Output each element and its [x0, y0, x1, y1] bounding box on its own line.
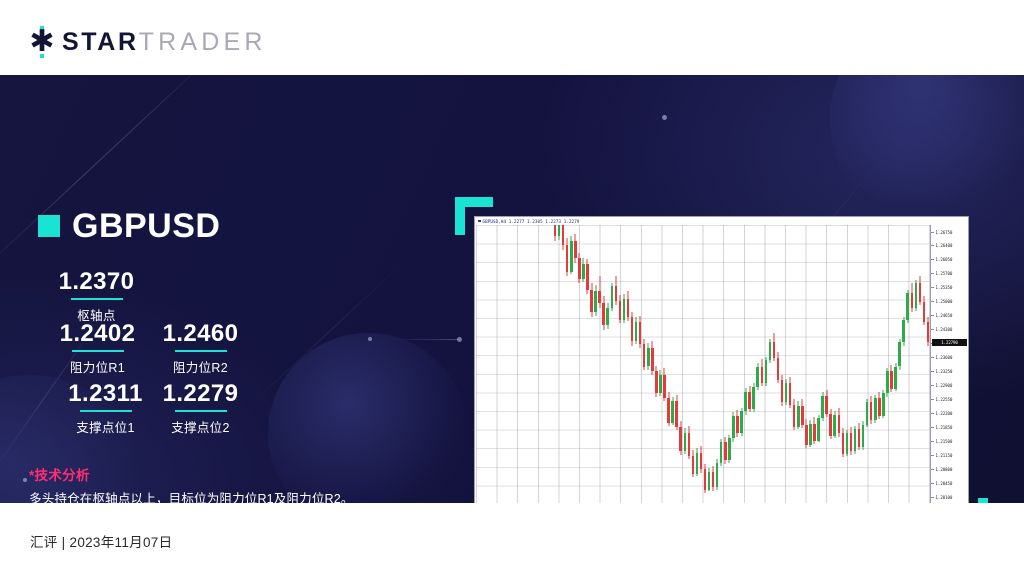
- candlestick: [574, 225, 577, 503]
- candlestick: [813, 225, 816, 503]
- price-tick: 1.24300: [931, 327, 968, 333]
- candlestick: [773, 225, 776, 503]
- candlestick: [521, 225, 524, 503]
- candlestick: [793, 225, 796, 503]
- brand-name-light: TRADER: [139, 28, 267, 57]
- candlestick: [696, 225, 699, 503]
- candlestick: [529, 225, 532, 503]
- price-tick: 1.20450: [931, 480, 968, 486]
- main-panel: GBPUSD 1.2370 枢轴点 1.2402 阻力位R1 1.2460 阻力…: [0, 75, 1024, 503]
- level-underline: [71, 298, 123, 300]
- price-tick: 1.21500: [931, 438, 968, 444]
- level-pivot-value: 1.2370: [29, 269, 164, 295]
- price-tick: 1.25000: [931, 299, 968, 305]
- candlestick: [655, 225, 658, 503]
- candlestick: [797, 225, 800, 503]
- candlestick: [594, 225, 597, 503]
- candlestick: [756, 225, 759, 503]
- candlestick: [481, 225, 484, 503]
- candlestick: [684, 225, 687, 503]
- price-tick: 1.23250: [931, 369, 968, 375]
- candlestick: [894, 225, 897, 503]
- price-tick: 1.21850: [931, 424, 968, 430]
- candlestick: [765, 225, 768, 503]
- candlestick: [878, 225, 881, 503]
- level-underline: [175, 410, 227, 412]
- candlestick: [720, 225, 723, 503]
- candlestick: [517, 225, 520, 503]
- price-tick: 1.24650: [931, 313, 968, 319]
- candlestick: [902, 225, 905, 503]
- candlestick: [862, 225, 865, 503]
- candlestick: [590, 225, 593, 503]
- candlestick: [785, 225, 788, 503]
- price-tick: 1.26750: [931, 229, 968, 235]
- current-price-tag: 1.22790: [932, 339, 967, 345]
- candlestick: [671, 225, 674, 503]
- price-tick: 1.20100: [931, 494, 968, 500]
- candlestick: [679, 225, 682, 503]
- candlestick: [704, 225, 707, 503]
- footer-bar: 汇评 | 2023年11月07日: [0, 503, 1024, 576]
- candlestick: [550, 225, 553, 503]
- candlestick: [874, 225, 877, 503]
- candlestick: [781, 225, 784, 503]
- candlestick: [586, 225, 589, 503]
- candlestick: [789, 225, 792, 503]
- price-tick: 1.26400: [931, 243, 968, 249]
- candlestick: [838, 225, 841, 503]
- candlestick: [663, 225, 666, 503]
- candlestick: [777, 225, 780, 503]
- candlestick: [842, 225, 845, 503]
- candlestick: [619, 225, 622, 503]
- candlestick: [639, 225, 642, 503]
- candlestick: [906, 225, 909, 503]
- candlestick: [606, 225, 609, 503]
- footer-text: 汇评 | 2023年11月07日: [30, 531, 172, 551]
- candlestick: [833, 225, 836, 503]
- candlestick: [513, 225, 516, 503]
- candlestick: [829, 225, 832, 503]
- chart-title-bar: GBPUSD,H4 1.2277 1.2305 1.2273 1.2279: [475, 217, 969, 225]
- candlestick: [489, 225, 492, 503]
- slide-root: ✱ STAR TRADER: [0, 0, 1024, 576]
- candlestick: [752, 225, 755, 503]
- level-underline: [175, 350, 227, 352]
- candlestick: [919, 225, 922, 503]
- candlestick: [923, 225, 926, 503]
- candlestick: [870, 225, 873, 503]
- candlestick: [817, 225, 820, 503]
- candlestick: [501, 225, 504, 503]
- price-chart-window[interactable]: GBPUSD,H4 1.2277 1.2305 1.2273 1.2279 1.…: [474, 216, 969, 503]
- candlestick: [566, 225, 569, 503]
- candlestick: [769, 225, 772, 503]
- candlestick: [667, 225, 670, 503]
- technical-analysis-block: *技术分析 多头持仓在枢轴点以上，目标位为阻力位R1及阻力位R2。 若低于枢轴点…: [29, 464, 401, 503]
- level-s2-label: 支撑点位2: [133, 417, 268, 436]
- price-tick: 1.20800: [931, 466, 968, 472]
- candlestick: [761, 225, 764, 503]
- candlestick: [525, 225, 528, 503]
- analysis-line-1: 多头持仓在枢轴点以上，目标位为阻力位R1及阻力位R2。: [29, 490, 401, 503]
- price-tick: 1.26050: [931, 257, 968, 263]
- price-tick: 1.22550: [931, 396, 968, 402]
- candlestick: [801, 225, 804, 503]
- level-s2-value: 1.2279: [133, 381, 268, 407]
- candlestick: [570, 225, 573, 503]
- candlestick: [554, 225, 557, 503]
- candlestick: [700, 225, 703, 503]
- candlestick: [728, 225, 731, 503]
- level-underline: [80, 410, 132, 412]
- candlestick: [708, 225, 711, 503]
- candlestick: [602, 225, 605, 503]
- candlestick: [546, 225, 549, 503]
- price-tick: 1.25700: [931, 271, 968, 277]
- price-tick: 1.25350: [931, 285, 968, 291]
- candlestick: [732, 225, 735, 503]
- candlestick: [846, 225, 849, 503]
- candlestick: [809, 225, 812, 503]
- candlestick: [911, 225, 914, 503]
- candlestick: [927, 225, 930, 503]
- candlestick: [915, 225, 918, 503]
- candlestick: [748, 225, 751, 503]
- candlestick: [858, 225, 861, 503]
- candlestick: [611, 225, 614, 503]
- price-tick: 1.22200: [931, 410, 968, 416]
- instrument-heading: GBPUSD: [38, 209, 220, 243]
- header-bar: ✱ STAR TRADER: [0, 0, 1024, 75]
- candlestick-series: [476, 225, 930, 503]
- candlestick: [850, 225, 853, 503]
- candlestick: [688, 225, 691, 503]
- level-r2-label: 阻力位R2: [133, 357, 268, 376]
- price-tick: 1.23600: [931, 355, 968, 361]
- candlestick: [740, 225, 743, 503]
- candlestick: [675, 225, 678, 503]
- candlestick: [805, 225, 808, 503]
- candlestick: [866, 225, 869, 503]
- candlestick: [485, 225, 488, 503]
- candlestick: [744, 225, 747, 503]
- price-tick: 1.21150: [931, 452, 968, 458]
- analysis-heading: *技术分析: [29, 464, 401, 484]
- chart-title-text: GBPUSD,H4 1.2277 1.2305 1.2273 1.2279: [483, 219, 580, 224]
- candlestick: [615, 225, 618, 503]
- candlestick: [534, 225, 537, 503]
- level-pivot: 1.2370 枢轴点: [29, 269, 164, 324]
- instrument-symbol: GBPUSD: [72, 209, 220, 243]
- candlestick: [886, 225, 889, 503]
- candlestick: [538, 225, 541, 503]
- level-support-2: 1.2279 支撑点位2: [133, 381, 268, 436]
- level-resistance-2: 1.2460 阻力位R2: [133, 321, 268, 376]
- candlestick: [505, 225, 508, 503]
- candlestick: [898, 225, 901, 503]
- candlestick: [578, 225, 581, 503]
- candlestick: [692, 225, 695, 503]
- candlestick: [643, 225, 646, 503]
- candlestick: [659, 225, 662, 503]
- candlestick: [509, 225, 512, 503]
- candlestick: [635, 225, 638, 503]
- candlestick: [493, 225, 496, 503]
- level-r2-value: 1.2460: [133, 321, 268, 347]
- candlestick: [854, 225, 857, 503]
- candlestick: [477, 225, 480, 503]
- candlestick: [631, 225, 634, 503]
- chart-plot-area: [476, 225, 930, 503]
- candlestick: [736, 225, 739, 503]
- candlestick: [623, 225, 626, 503]
- candlestick: [562, 225, 565, 503]
- brand-name-bold: STAR: [62, 28, 139, 57]
- candlestick: [724, 225, 727, 503]
- candlestick: [882, 225, 885, 503]
- candlestick: [542, 225, 545, 503]
- candlestick: [598, 225, 601, 503]
- candlestick: [627, 225, 630, 503]
- candlestick: [716, 225, 719, 503]
- candlestick: [712, 225, 715, 503]
- candlestick: [825, 225, 828, 503]
- chart-marker-icon: [478, 220, 481, 223]
- candlestick: [821, 225, 824, 503]
- candlestick: [651, 225, 654, 503]
- level-underline: [72, 350, 124, 352]
- price-tick: 1.22900: [931, 382, 968, 388]
- asterisk-logo-icon: ✱: [27, 27, 57, 57]
- candlestick: [890, 225, 893, 503]
- candlestick: [647, 225, 650, 503]
- brand-logo: ✱ STAR TRADER: [27, 28, 267, 56]
- candlestick: [582, 225, 585, 503]
- price-axis[interactable]: 1.267501.264001.260501.257001.253501.250…: [930, 225, 968, 503]
- candlestick: [497, 225, 500, 503]
- candlestick: [558, 225, 561, 503]
- instrument-marker-icon: [38, 215, 60, 237]
